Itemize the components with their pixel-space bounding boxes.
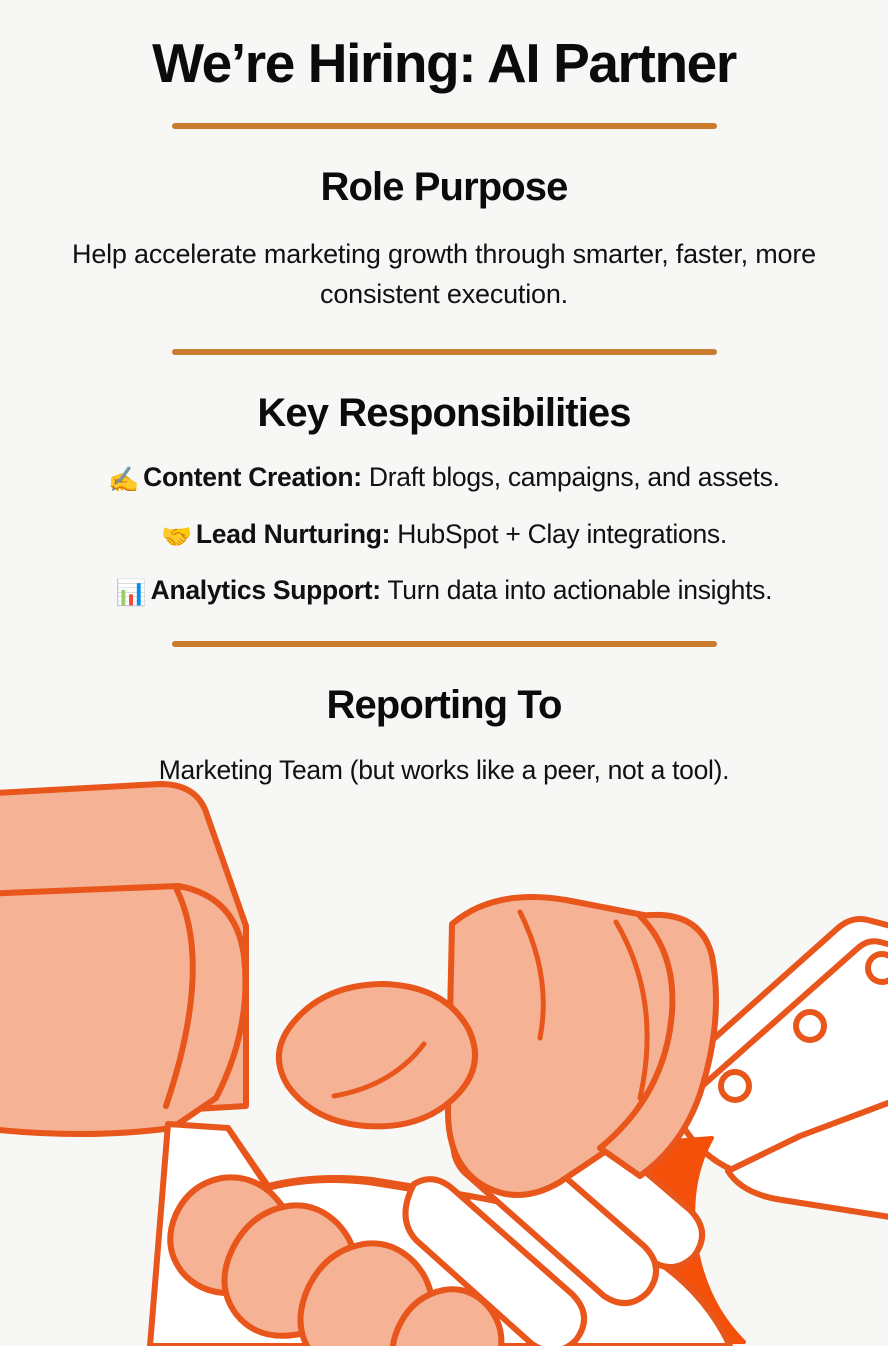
writing-hand-emoji: ✍️ [108, 466, 139, 494]
role-purpose-heading: Role Purpose [0, 165, 888, 209]
responsibility-detail: Draft blogs, campaigns, and assets. [362, 462, 780, 492]
responsibility-label: Content Creation: [143, 462, 362, 492]
page-title: We’re Hiring: AI Partner [0, 34, 888, 93]
section-reporting-to: Reporting To Marketing Team (but works l… [0, 683, 888, 787]
responsibility-detail: Turn data into actionable insights. [381, 575, 772, 605]
reporting-to-heading: Reporting To [0, 683, 888, 727]
robot-bolt-1 [721, 1072, 749, 1100]
reporting-to-body: Marketing Team (but works like a peer, n… [0, 753, 888, 787]
list-item: 📊Analytics Support: Turn data into actio… [0, 574, 888, 609]
responsibilities-list: ✍️Content Creation: Draft blogs, campaig… [0, 461, 888, 609]
list-item: ✍️Content Creation: Draft blogs, campaig… [0, 461, 888, 496]
human-thumb [279, 984, 475, 1126]
divider-2 [172, 349, 717, 355]
role-purpose-body: Help accelerate marketing growth through… [49, 235, 839, 315]
handshake-emoji: 🤝 [161, 523, 192, 551]
divider-1 [172, 123, 717, 129]
poster-content: We’re Hiring: AI Partner Role Purpose He… [0, 0, 888, 787]
robot-bolt-2 [796, 1012, 824, 1040]
section-key-responsibilities: Key Responsibilities ✍️Content Creation:… [0, 391, 888, 609]
responsibility-label: Analytics Support: [151, 575, 381, 605]
human-left-cuff [0, 886, 245, 1134]
list-item: 🤝Lead Nurturing: HubSpot + Clay integrat… [0, 518, 888, 553]
responsibility-label: Lead Nurturing: [196, 519, 390, 549]
section-role-purpose: Role Purpose Help accelerate marketing g… [0, 165, 888, 315]
poster-root: We’re Hiring: AI Partner Role Purpose He… [0, 0, 888, 1346]
bar-chart-emoji: 📊 [116, 579, 147, 607]
handshake-illustration [0, 776, 888, 1346]
robot-bolt-3 [868, 954, 888, 982]
responsibility-detail: HubSpot + Clay integrations. [390, 519, 727, 549]
divider-3 [172, 641, 717, 647]
key-responsibilities-heading: Key Responsibilities [0, 391, 888, 435]
